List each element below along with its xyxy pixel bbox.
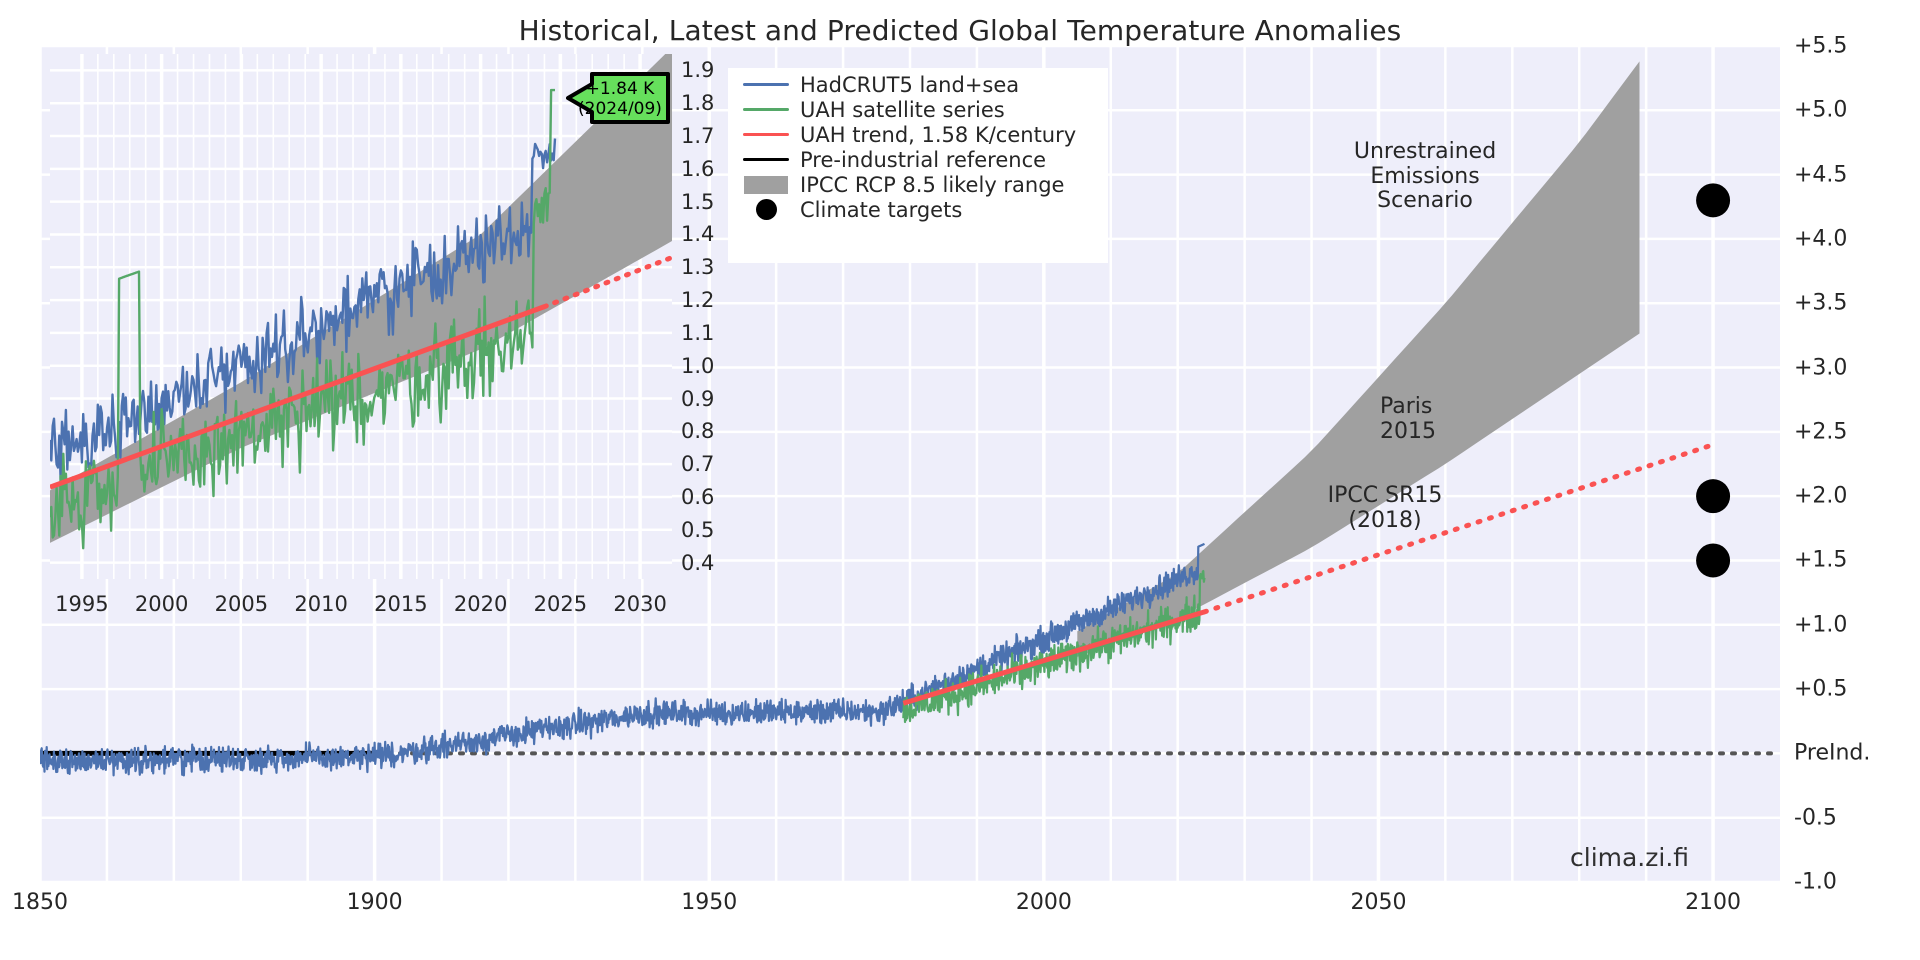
y-tick-right--1.0: -1.0 <box>1794 870 1837 895</box>
inset-y-tick-0.5: 0.5 <box>681 518 714 542</box>
y-tick-right-+3.0: +3.0 <box>1794 355 1847 380</box>
unrestrained-emissions-dot <box>1696 183 1730 217</box>
legend-line-key <box>738 158 794 161</box>
legend-dot-swatch <box>756 199 777 220</box>
x-tick-2050: 2050 <box>1350 890 1406 915</box>
y-tick-right-+2.0: +2.0 <box>1794 484 1847 509</box>
inset-x-tick-2030: 2030 <box>613 592 666 616</box>
legend-label: UAH satellite series <box>794 98 1005 122</box>
inset-x-tick-2025: 2025 <box>534 592 587 616</box>
legend-line-swatch <box>743 108 789 111</box>
y-tick-right-+4.5: +4.5 <box>1794 162 1847 187</box>
y-tick-right-+5.0: +5.0 <box>1794 98 1847 123</box>
legend-line-key <box>738 108 794 111</box>
inset-y-tick-0.8: 0.8 <box>681 419 714 443</box>
legend-label: HadCRUT5 land+sea <box>794 73 1019 97</box>
y-tick-right--0.5: -0.5 <box>1794 805 1837 830</box>
legend-item-1[interactable]: UAH satellite series <box>738 97 1098 122</box>
legend-line-swatch <box>743 133 789 136</box>
x-tick-1950: 1950 <box>681 890 737 915</box>
legend-line-swatch <box>743 158 789 161</box>
x-tick-1900: 1900 <box>347 890 403 915</box>
y-tick-right-+2.5: +2.5 <box>1794 419 1847 444</box>
legend-patch-key <box>738 176 794 194</box>
legend-item-2[interactable]: UAH trend, 1.58 K/century <box>738 122 1098 147</box>
inset-plot-area <box>50 54 672 579</box>
annotation-paris-2015: Paris 2015 <box>1380 395 1490 444</box>
inset-x-tick-2015: 2015 <box>374 592 427 616</box>
legend-line-key <box>738 133 794 136</box>
inset-x-tick-1995: 1995 <box>55 592 108 616</box>
y-tick-right-+4.0: +4.0 <box>1794 226 1847 251</box>
legend-dot-key <box>738 199 794 220</box>
annotation-line: Paris <box>1380 395 1490 420</box>
y-tick-right-+5.5: +5.5 <box>1794 34 1847 59</box>
page-title: Historical, Latest and Predicted Global … <box>0 14 1920 47</box>
annotation-line: Emissions <box>1330 165 1520 190</box>
legend-label: Climate targets <box>794 198 962 222</box>
y-tick-right-+1.5: +1.5 <box>1794 548 1847 573</box>
ipcc-sr15-2018-dot <box>1696 543 1730 577</box>
chart-canvas: Historical, Latest and Predicted Global … <box>0 0 1920 960</box>
inset-chart-svg <box>50 54 672 579</box>
y-tick-right-+1.0: +1.0 <box>1794 612 1847 637</box>
inset-y-tick-1.6: 1.6 <box>681 157 714 181</box>
inset-x-tick-2005: 2005 <box>215 592 268 616</box>
x-tick-2100: 2100 <box>1685 890 1741 915</box>
watermark: clima.zi.fi <box>1570 843 1689 872</box>
inset-y-tick-0.4: 0.4 <box>681 551 714 575</box>
y-tick-right-PreInd.: PreInd. <box>1794 741 1870 766</box>
legend-line-key <box>738 83 794 86</box>
inset-y-tick-0.9: 0.9 <box>681 387 714 411</box>
inset-y-tick-1.7: 1.7 <box>681 124 714 148</box>
y-tick-right-+0.5: +0.5 <box>1794 677 1847 702</box>
legend-label: UAH trend, 1.58 K/century <box>794 123 1076 147</box>
legend-label: IPCC RCP 8.5 likely range <box>794 173 1064 197</box>
inset-x-tick-2010: 2010 <box>294 592 347 616</box>
legend-line-swatch <box>743 83 789 86</box>
annotation-line: Unrestrained <box>1330 140 1520 165</box>
legend-item-4[interactable]: IPCC RCP 8.5 likely range <box>738 172 1098 197</box>
annotation-line: (2018) <box>1290 509 1480 534</box>
inset-x-tick-2000: 2000 <box>135 592 188 616</box>
annotation-line: Scenario <box>1330 189 1520 214</box>
legend-item-3[interactable]: Pre-industrial reference <box>738 147 1098 172</box>
inset-y-tick-1.5: 1.5 <box>681 190 714 214</box>
inset-x-tick-2020: 2020 <box>454 592 507 616</box>
legend-patch-swatch <box>744 176 788 194</box>
y-tick-right-+3.5: +3.5 <box>1794 291 1847 316</box>
inset-y-tick-1.8: 1.8 <box>681 91 714 115</box>
x-tick-1850: 1850 <box>12 890 68 915</box>
callout-line-2: (2024/09) <box>576 100 664 120</box>
annotation-unrestrained-emissions: Unrestrained Emissions Scenario <box>1330 140 1520 214</box>
legend: HadCRUT5 land+seaUAH satellite seriesUAH… <box>728 68 1108 263</box>
annotation-line: 2015 <box>1380 420 1490 445</box>
callout-line-1: +1.84 K <box>576 80 664 100</box>
inset-y-tick-1.9: 1.9 <box>681 58 714 82</box>
inset-y-tick-1.2: 1.2 <box>681 288 714 312</box>
paris-2015-dot <box>1696 479 1730 513</box>
legend-item-5[interactable]: Climate targets <box>738 197 1098 222</box>
legend-item-0[interactable]: HadCRUT5 land+sea <box>738 72 1098 97</box>
inset-y-tick-0.6: 0.6 <box>681 485 714 509</box>
x-tick-2000: 2000 <box>1016 890 1072 915</box>
inset-y-tick-1.3: 1.3 <box>681 255 714 279</box>
annotation-line: IPCC SR15 <box>1290 484 1480 509</box>
inset-y-tick-0.7: 0.7 <box>681 452 714 476</box>
annotation-ipcc-sr15: IPCC SR15 (2018) <box>1290 484 1480 533</box>
inset-y-tick-1.4: 1.4 <box>681 222 714 246</box>
inset-y-tick-1.0: 1.0 <box>681 354 714 378</box>
inset-y-tick-1.1: 1.1 <box>681 321 714 345</box>
legend-label: Pre-industrial reference <box>794 148 1046 172</box>
